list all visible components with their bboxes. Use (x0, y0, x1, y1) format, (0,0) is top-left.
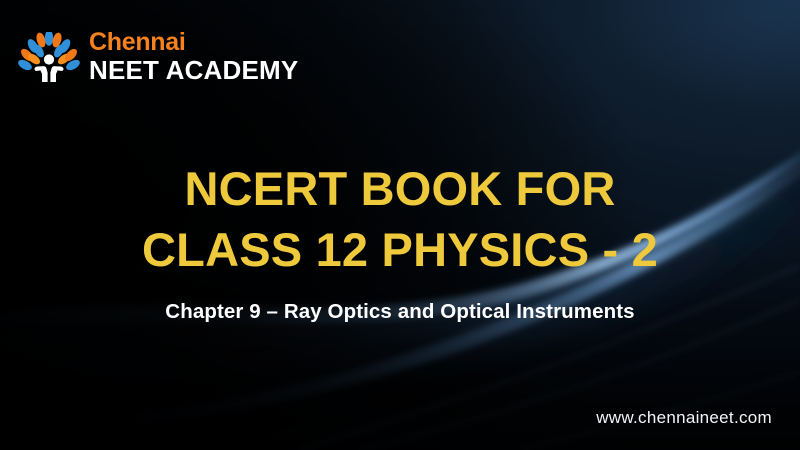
slide-title-line-2: CLASS 12 PHYSICS - 2 (0, 219, 800, 280)
slide-subtitle: Chapter 9 – Ray Optics and Optical Instr… (0, 300, 800, 324)
headline-block: NCERT BOOK FOR CLASS 12 PHYSICS - 2 Chap… (0, 158, 800, 324)
slide-title-line-1: NCERT BOOK FOR (0, 158, 800, 219)
brand-name-line1: Chennai (89, 30, 298, 55)
brand-logo[interactable]: Chennai NEET ACADEMY (18, 30, 298, 83)
website-url[interactable]: www.chennaineet.com (596, 408, 772, 428)
brand-wordmark: Chennai NEET ACADEMY (89, 30, 298, 83)
slide-canvas: Chennai NEET ACADEMY NCERT BOOK FOR CLAS… (0, 0, 800, 450)
brand-name-line2: NEET ACADEMY (89, 57, 298, 83)
sunburst-person-icon (18, 32, 80, 82)
